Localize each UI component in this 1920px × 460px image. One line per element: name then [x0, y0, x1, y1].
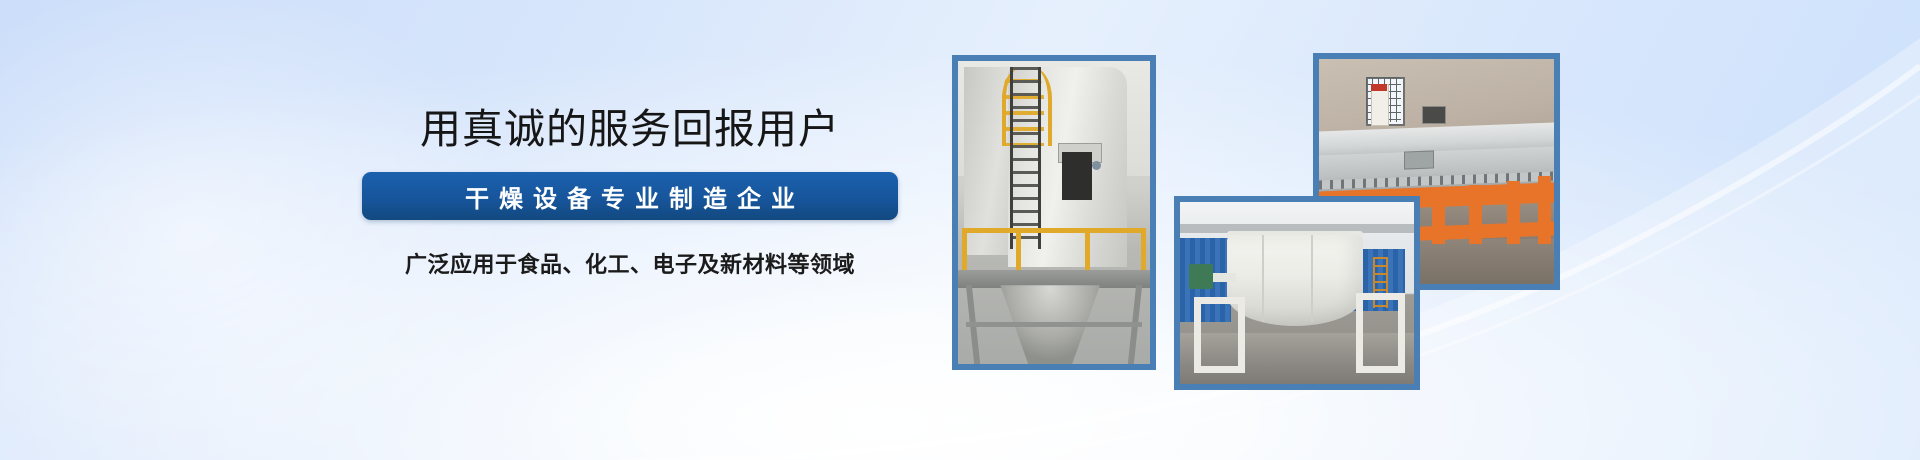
- hero-text-block: 用真诚的服务回报用户 干燥设备专业制造企业 广泛应用于食品、化工、电子及新材料等…: [300, 104, 960, 279]
- hero-ribbon-badge: 干燥设备专业制造企业: [362, 172, 898, 220]
- hero-ribbon-label: 干燥设备专业制造企业: [455, 179, 805, 214]
- hero-banner: 用真诚的服务回报用户 干燥设备专业制造企业 广泛应用于食品、化工、电子及新材料等…: [0, 0, 1920, 460]
- photo-spray-dryer-tower: [952, 55, 1156, 370]
- photo-ribbon-mixer: [1174, 196, 1420, 390]
- hero-headline: 用真诚的服务回报用户: [300, 104, 960, 155]
- hero-subline: 广泛应用于食品、化工、电子及新材料等领域: [300, 247, 960, 279]
